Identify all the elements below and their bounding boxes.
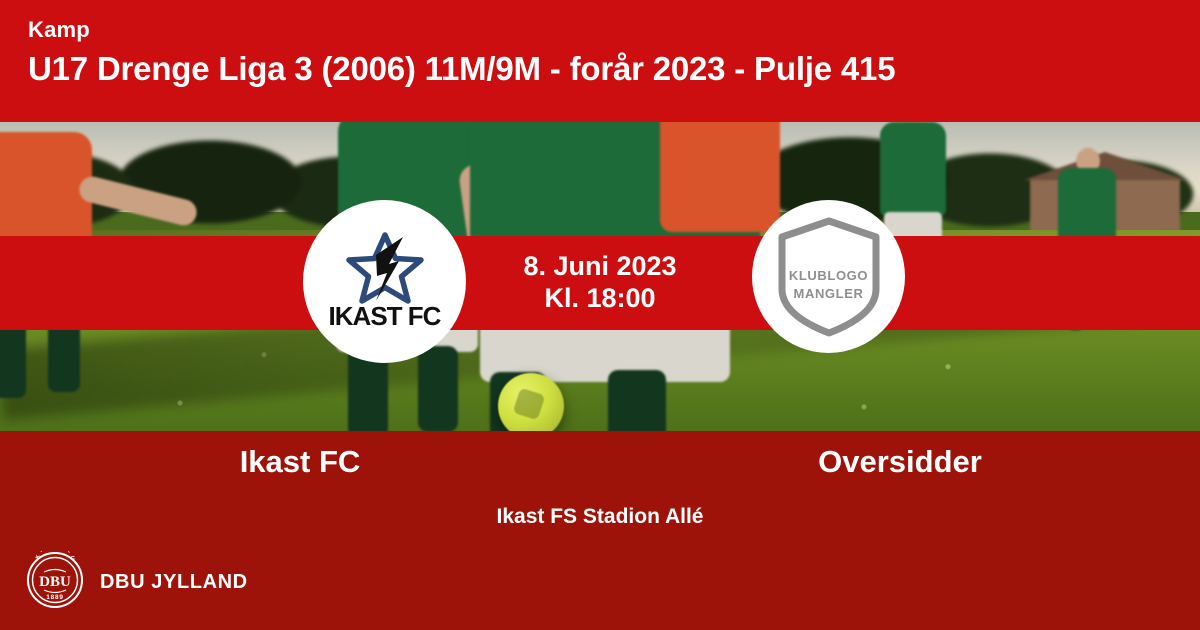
header-kicker: Kamp <box>28 18 1200 42</box>
home-club-logo: IKAST FC <box>303 200 466 363</box>
svg-text:1889: 1889 <box>46 594 63 601</box>
ikast-fc-star-icon: IKAST FC <box>322 231 448 332</box>
home-logo-label: IKAST FC <box>329 301 441 332</box>
player-far-1-torso <box>880 122 946 216</box>
shield-icon: KLUBLOGO MANGLER <box>773 215 885 339</box>
match-time: Kl. 18:00 <box>544 283 655 315</box>
football-icon <box>498 373 564 431</box>
poster-header: Kamp U17 Drenge Liga 3 (2006) 11M/9M - f… <box>0 0 1200 122</box>
player-mid-leg-2 <box>418 346 458 431</box>
svg-text:DBU: DBU <box>39 574 71 590</box>
teams-row: Ikast FC Oversidder <box>0 444 1200 480</box>
away-club-logo: KLUBLOGO MANGLER <box>752 200 905 353</box>
match-date: 8. Juni 2023 <box>523 251 676 283</box>
home-team-name: Ikast FC <box>0 444 600 480</box>
dbu-crest-icon: DANSK BOLDSPIL UNION DBU 1889 <box>26 551 84 614</box>
away-team-name: Oversidder <box>600 444 1200 480</box>
organizer-footer: DANSK BOLDSPIL UNION DBU 1889 DBU JYLLAN… <box>26 551 248 614</box>
page-title: U17 Drenge Liga 3 (2006) 11M/9M - forår … <box>28 48 1200 89</box>
match-poster: Kamp U17 Drenge Liga 3 (2006) 11M/9M - f… <box>0 0 1200 630</box>
venue-name: Ikast FS Stadion Allé <box>0 505 1200 529</box>
player-foreground-opponent <box>660 122 780 232</box>
away-logo-line-1: KLUBLOGO <box>789 268 868 283</box>
match-datetime: 8. Juni 2023 Kl. 18:00 <box>0 236 1200 330</box>
player-foreground-leg-2 <box>608 370 666 431</box>
away-logo-label: KLUBLOGO MANGLER <box>773 267 885 305</box>
away-logo-line-2: MANGLER <box>794 286 864 301</box>
organizer-label: DBU JYLLAND <box>100 571 248 594</box>
